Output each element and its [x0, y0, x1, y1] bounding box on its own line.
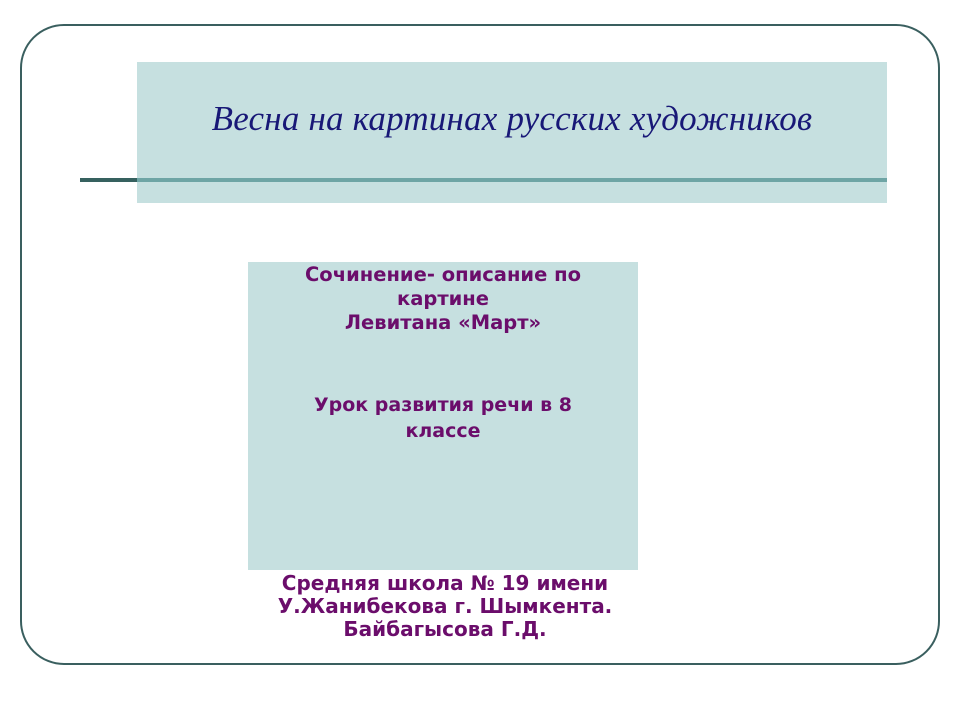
footer-line: У.Жанибекова г. Шымкента. [235, 595, 655, 618]
content-line: картине [248, 287, 638, 311]
footer-line: Средняя школа № 19 имени [235, 572, 655, 595]
content-line: Урок развития речи в 8 [248, 392, 638, 418]
content-block-lesson: Урок развития речи в 8 классе [248, 392, 638, 444]
title-divider-rule-left [80, 178, 137, 182]
slide-canvas: Весна на картинах русских художников Соч… [0, 0, 960, 720]
slide-title: Весна на картинах русских художников [137, 96, 887, 142]
footer-line: Байбагысова Г.Д. [235, 618, 655, 641]
content-line: классе [248, 418, 638, 444]
footer-credits: Средняя школа № 19 имени У.Жанибекова г.… [235, 572, 655, 641]
title-divider-rule-right [137, 178, 887, 182]
content-block-assignment: Сочинение- описание по картине Левитана … [248, 263, 638, 335]
content-line: Левитана «Март» [248, 311, 638, 335]
content-line: Сочинение- описание по [248, 263, 638, 287]
